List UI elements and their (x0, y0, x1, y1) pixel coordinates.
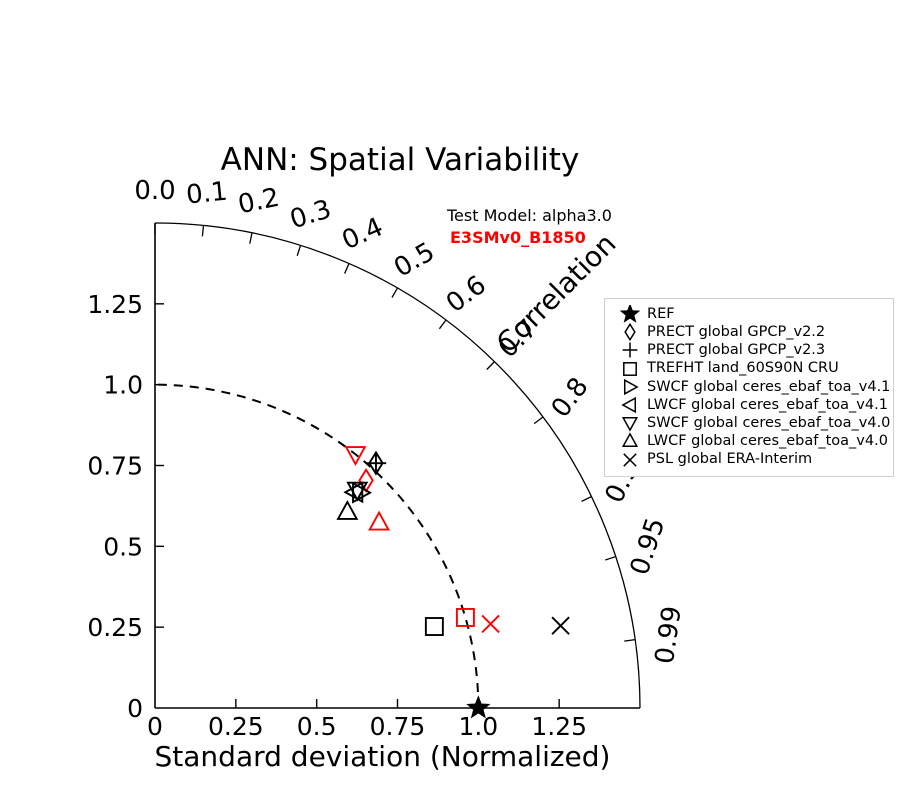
data-point-marker (370, 513, 389, 530)
legend-item-label: PRECT global GPCP_v2.3 (647, 343, 825, 358)
legend-item[interactable]: LWCF global ceres_ebaf_toa_v4.1 (613, 396, 885, 414)
y-tick-label: 0.75 (87, 452, 143, 481)
correlation-tick-label: 0.5 (389, 237, 440, 284)
correlation-tick (250, 233, 252, 244)
correlation-tick (439, 320, 446, 329)
data-point-marker (338, 502, 357, 519)
data-point-marker (482, 615, 499, 632)
legend-item[interactable]: SWCF global ceres_ebaf_toa_v4.0 (613, 414, 885, 432)
y-tick-label: 0.25 (87, 613, 143, 642)
model-name-label: E3SMv0_B1850 (447, 227, 697, 249)
legend-item[interactable]: REF (613, 305, 885, 323)
correlation-tick (297, 245, 300, 255)
correlation-tick (534, 417, 543, 424)
y-tick-label: 1.25 (87, 290, 143, 319)
triangle-up-icon (613, 432, 647, 450)
y-tick-label: 0.5 (103, 532, 143, 561)
chart-title: ANN: Spatial Variability (221, 142, 580, 178)
legend-item[interactable]: SWCF global ceres_ebaf_toa_v4.1 (613, 378, 885, 396)
correlation-tick-label: 0.2 (236, 183, 283, 221)
triangle-down-icon (613, 414, 647, 432)
legend-box[interactable]: REFPRECT global GPCP_v2.2PRECT global GP… (604, 298, 894, 477)
legend-item[interactable]: PRECT global GPCP_v2.2 (613, 323, 885, 341)
legend-item-label: SWCF global ceres_ebaf_toa_v4.1 (647, 380, 890, 395)
legend-item-label: LWCF global ceres_ebaf_toa_v4.1 (647, 398, 888, 413)
test-model-label: Test Model: alpha3.0 (447, 205, 697, 227)
legend-item-label: SWCF global ceres_ebaf_toa_v4.0 (647, 416, 890, 431)
data-point-marker (366, 453, 386, 473)
correlation-tick (202, 225, 203, 236)
y-tick-label: 0 (127, 694, 143, 723)
star-icon (613, 305, 647, 323)
triangle-left-icon (613, 396, 647, 414)
legend-item-label: REF (647, 307, 675, 322)
taylor-diagram-figure: 00.250.50.751.01.25Standard deviation (N… (0, 0, 900, 800)
y-tick-label: 1.0 (103, 371, 143, 400)
x-tick-label: 0.25 (208, 712, 264, 741)
correlation-tick-label: 0.4 (338, 212, 388, 256)
x-tick-label: 1.25 (531, 712, 587, 741)
correlation-tick-label: 0.6 (441, 270, 492, 319)
diamond-icon (613, 323, 647, 341)
legend-item-label: PRECT global GPCP_v2.2 (647, 325, 825, 340)
plus-icon (613, 341, 647, 359)
correlation-tick (624, 640, 635, 642)
header-note: Test Model: alpha3.0 E3SMv0_B1850 (447, 205, 697, 248)
legend-item-label: PSL global ERA-Interim (647, 452, 812, 467)
legend-item[interactable]: PRECT global GPCP_v2.3 (613, 341, 885, 359)
triangle-right-icon (613, 378, 647, 396)
correlation-tick (605, 557, 615, 560)
correlation-tick (582, 497, 592, 502)
data-point-marker (426, 618, 443, 635)
correlation-tick (487, 362, 495, 370)
legend-item-label: LWCF global ceres_ebaf_toa_v4.0 (647, 434, 888, 449)
legend-item[interactable]: PSL global ERA-Interim (613, 451, 885, 469)
legend-item[interactable]: LWCF global ceres_ebaf_toa_v4.0 (613, 432, 885, 450)
correlation-tick-label: 0.3 (286, 194, 334, 235)
correlation-tick (392, 288, 398, 298)
correlation-tick-label: 0.0 (134, 176, 175, 206)
legend-item[interactable]: TREFHT land_60S90N CRU (613, 360, 885, 378)
x-axis-title: Standard deviation (Normalized) (155, 740, 611, 773)
legend-item-label: TREFHT land_60S90N CRU (647, 361, 839, 376)
reference-std-arc (155, 385, 478, 708)
x-tick-label: 0 (147, 712, 163, 741)
x-tick-label: 0.5 (297, 712, 337, 741)
data-point-marker (552, 617, 569, 634)
correlation-tick-label: 0.99 (650, 604, 688, 666)
cross-icon (613, 451, 647, 469)
data-point-marker (457, 609, 474, 626)
x-tick-label: 1.0 (458, 712, 498, 741)
correlation-tick-label: 0.95 (625, 514, 672, 578)
square-icon (613, 360, 647, 378)
x-tick-label: 0.75 (370, 712, 426, 741)
correlation-tick-label: 0.1 (185, 177, 229, 211)
correlation-tick-label: 0.8 (546, 372, 595, 423)
correlation-tick (345, 263, 349, 273)
